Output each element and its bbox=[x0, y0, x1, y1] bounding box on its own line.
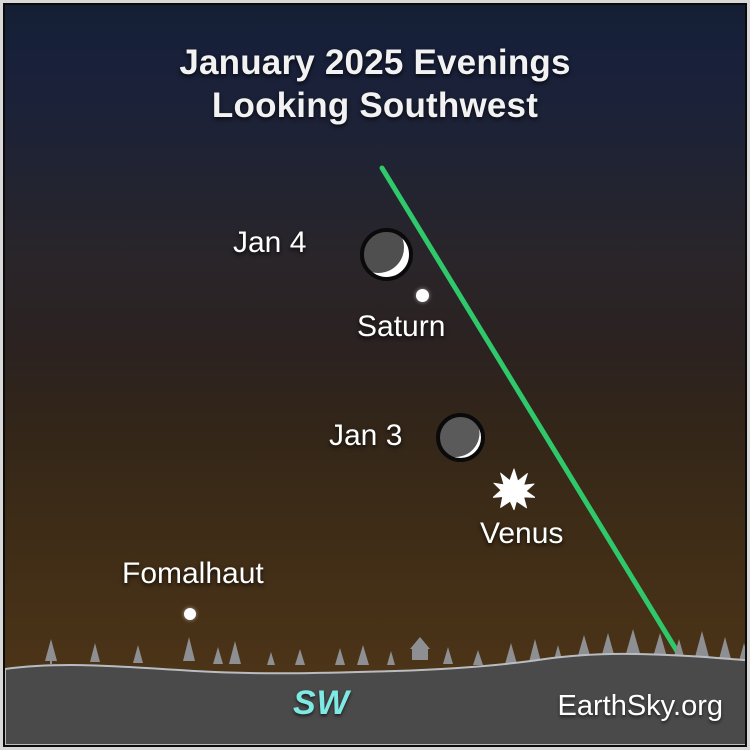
title-line-1: January 2025 Evenings bbox=[5, 41, 745, 84]
venus-label: Venus bbox=[480, 517, 563, 551]
venus-burst-shape bbox=[493, 468, 535, 510]
horizon-ground bbox=[5, 625, 747, 745]
moon-jan-4-icon bbox=[360, 228, 413, 281]
fomalhaut-label: Fomalhaut bbox=[122, 557, 264, 591]
sky-chart: January 2025 Evenings Looking Southwest bbox=[0, 0, 750, 750]
fomalhaut-dot-icon bbox=[184, 608, 196, 620]
saturn-label: Saturn bbox=[357, 310, 445, 344]
page-title: January 2025 Evenings Looking Southwest bbox=[5, 41, 745, 127]
moon-jan-4-label: Jan 4 bbox=[233, 226, 306, 260]
moon-jan-4 bbox=[360, 228, 413, 281]
credit-watermark: EarthSky.org bbox=[558, 690, 723, 723]
saturn-dot-icon bbox=[416, 289, 429, 302]
moon-jan-3-label: Jan 3 bbox=[329, 419, 402, 453]
venus-star-icon bbox=[493, 468, 535, 510]
moon-jan-3 bbox=[436, 413, 485, 462]
moon-jan-3-icon bbox=[436, 413, 485, 462]
title-line-2: Looking Southwest bbox=[5, 84, 745, 127]
chart-inner-frame: January 2025 Evenings Looking Southwest bbox=[3, 3, 747, 747]
compass-direction-label: SW bbox=[293, 684, 350, 723]
